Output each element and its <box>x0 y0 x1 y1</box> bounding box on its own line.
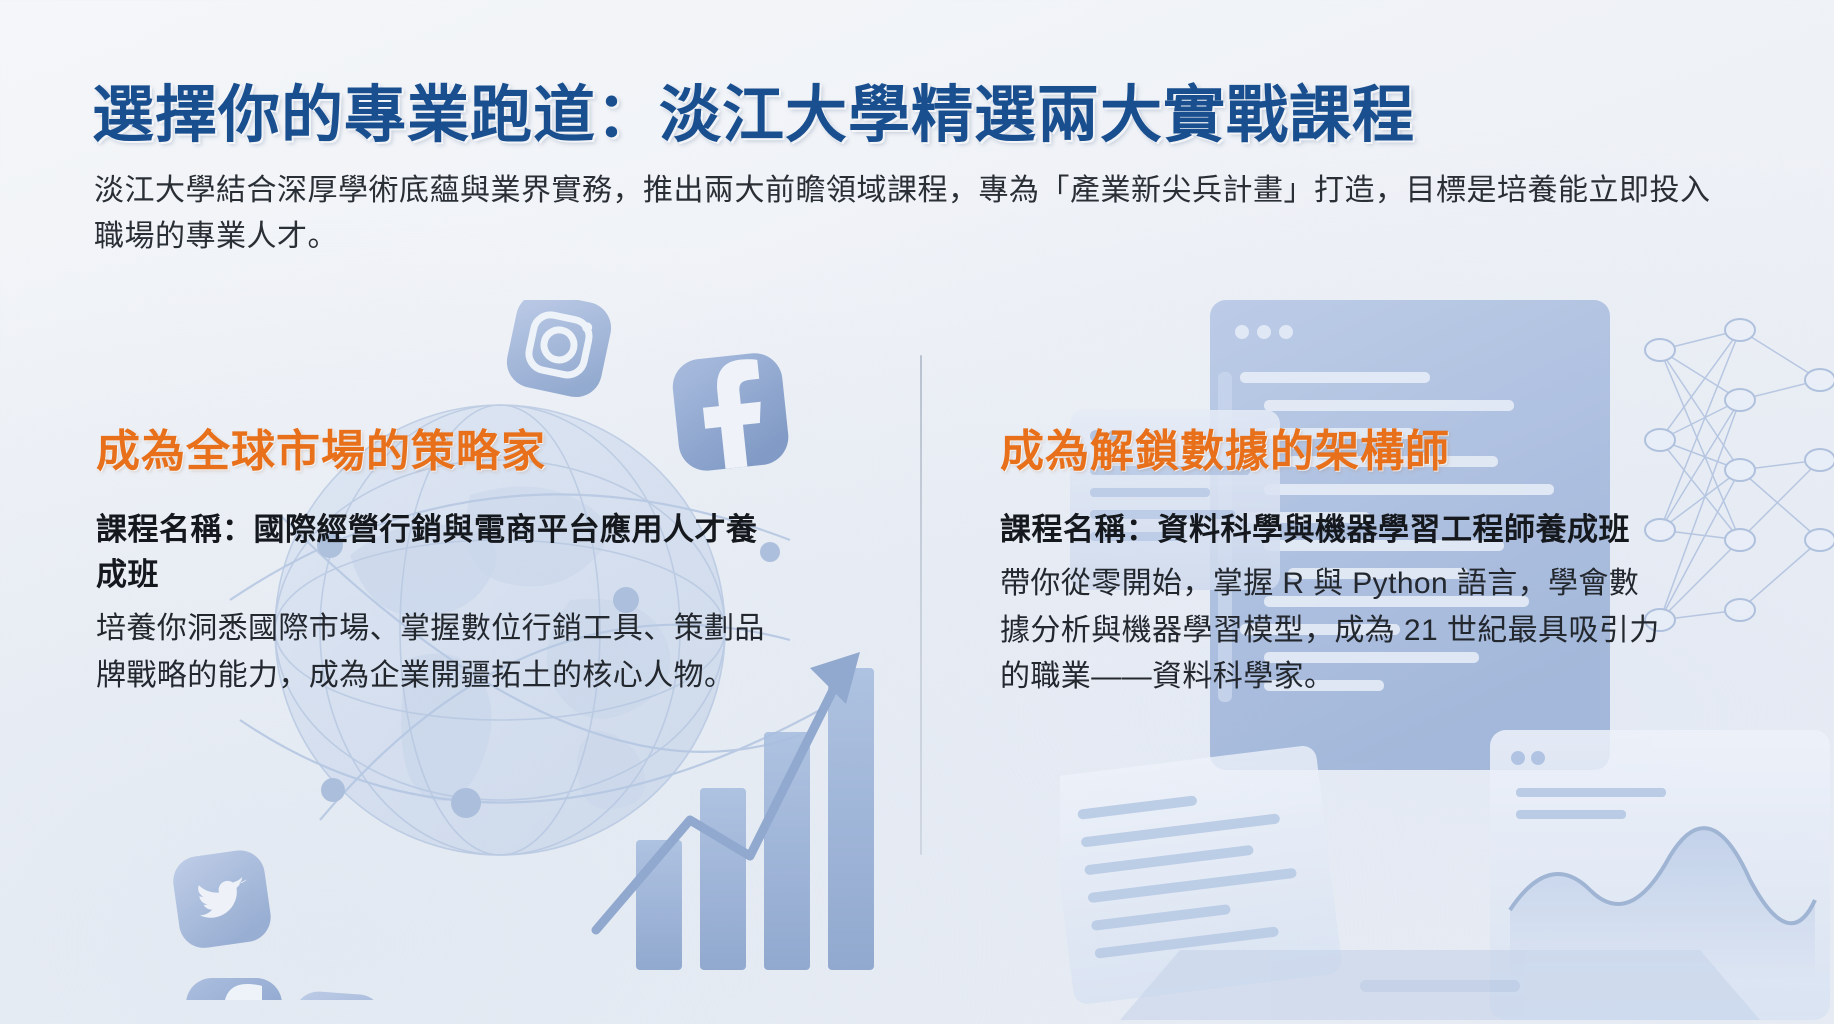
facebook-icon <box>186 978 282 1000</box>
course-heading-right: 成為解鎖數據的架構師 <box>1000 428 1760 476</box>
column-divider <box>920 355 922 855</box>
area-chart-icon <box>1490 730 1830 1020</box>
dashboard-panel-icon <box>1060 744 1343 1005</box>
course-heading-left: 成為全球市場的策略家 <box>96 428 876 476</box>
bar-chart-growth-icon <box>596 652 874 970</box>
course-description-right: 帶你從零開始，掌握 R 與 Python 語言，學會數據分析與機器學習模型，成為… <box>1000 561 1660 701</box>
page-title: 選擇你的專業跑道：淡江大學精選兩大實戰課程 <box>92 64 1415 154</box>
course-column-right: 成為解鎖數據的架構師 課程名稱：資料科學與機器學習工程師養成班 帶你從零開始，掌… <box>1000 428 1760 701</box>
course-name-right: 課程名稱：資料科學與機器學習工程師養成班 <box>1000 508 1680 553</box>
twitter-icon <box>170 847 274 951</box>
laptop-code-illustration <box>1120 950 1760 1020</box>
course-description-left: 培養你洞悉國際市場、掌握數位行銷工具、策劃品牌戰略的能力，成為企業開疆拓土的核心… <box>96 606 776 699</box>
course-column-left: 成為全球市場的策略家 課程名稱：國際經營行銷與電商平台應用人才養成班 培養你洞悉… <box>96 428 876 699</box>
instagram-icon <box>290 990 384 1000</box>
page-subtitle: 淡江大學結合深厚學術底蘊與業界實務，推出兩大前瞻領域課程，專為「產業新尖兵計畫」… <box>94 168 1734 259</box>
course-name-left: 課程名稱：國際經營行銷與電商平台應用人才養成班 <box>96 508 786 598</box>
instagram-icon <box>502 300 616 402</box>
